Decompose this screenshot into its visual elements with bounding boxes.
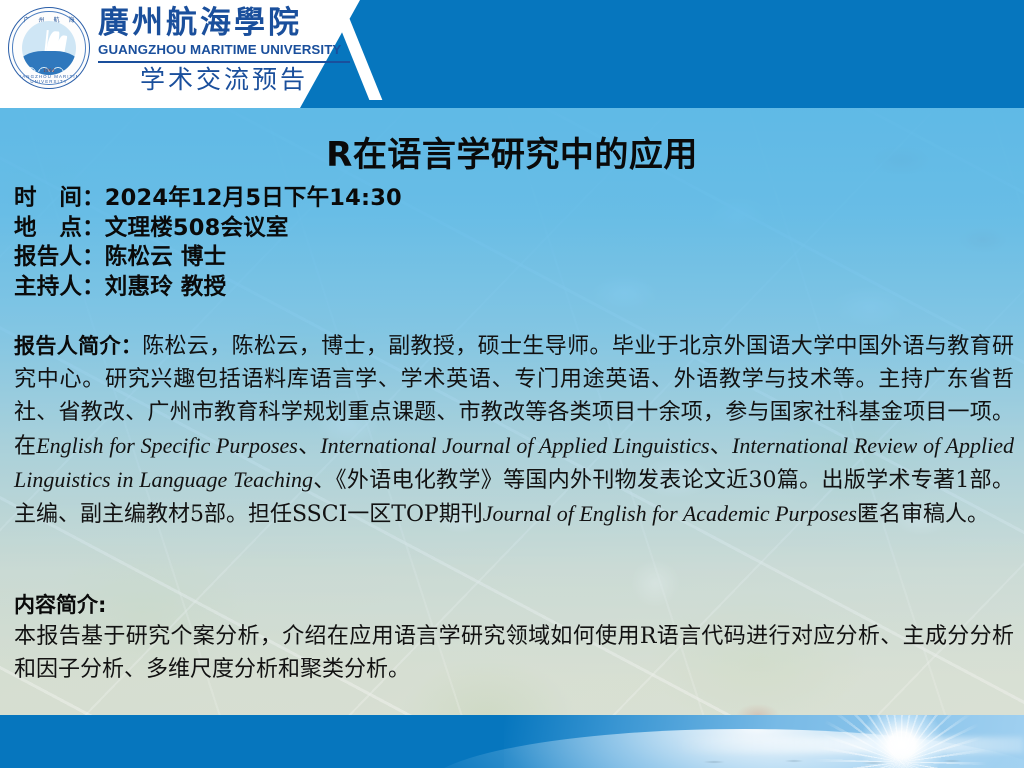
university-name-chinese: 廣州航海學院 — [98, 5, 360, 41]
event-host-line: 主持人：刘惠玲 教授 — [14, 273, 402, 303]
seal-english-arc-text: GUANGZHOU MARITIME UNIVERSITY — [9, 74, 89, 84]
university-seal-logo-icon: 广州航海 1964 GUANGZHOU MARITIME UNIVERSITY — [8, 7, 90, 89]
poster-content: R在语言学研究中的应用 时 间：2024年12月5日下午14:30 地 点：文理… — [0, 108, 1024, 715]
content-summary-label: 内容简介: — [14, 590, 1014, 620]
event-speaker-line: 报告人：陈松云 博士 — [14, 243, 402, 273]
university-brand-block: 廣州航海學院 GUANGZHOU MARITIME UNIVERSITY 学术交… — [98, 5, 360, 95]
brand-divider — [98, 61, 350, 63]
content-summary-section: 内容简介: 本报告基于研究个案分析，介绍在应用语言学研究领域如何使用R语言代码进… — [14, 590, 1014, 686]
bio-separator-1: 、 — [298, 434, 320, 459]
content-summary-paragraph: 本报告基于研究个案分析，介绍在应用语言学研究领域如何使用R语言代码进行对应分析、… — [14, 620, 1014, 686]
speaker-bio-section: 报告人简介：陈松云，陈松云，博士，副教授，硕士生导师。毕业于北京外国语大学中国外… — [14, 330, 1014, 531]
poster-root: 广州航海 1964 GUANGZHOU MARITIME UNIVERSITY … — [0, 0, 1024, 768]
poster-header: 广州航海 1964 GUANGZHOU MARITIME UNIVERSITY … — [0, 0, 1024, 108]
journal-name-4: Journal of English for Academic Purposes — [483, 501, 857, 526]
university-name-english: GUANGZHOU MARITIME UNIVERSITY — [98, 41, 363, 59]
speaker-bio-paragraph: 报告人简介：陈松云，陈松云，博士，副教授，硕士生导师。毕业于北京外国语大学中国外… — [14, 330, 1014, 531]
bio-separator-2: 、 — [710, 434, 732, 459]
journal-name-2: International Journal of Applied Linguis… — [320, 433, 709, 458]
page-title: R在语言学研究中的应用 — [0, 134, 1024, 176]
footer-ships-silhouette-icon — [684, 756, 1014, 766]
speaker-bio-tail: 匿名审稿人。 — [857, 502, 989, 527]
event-time-line: 时 间：2024年12月5日下午14:30 — [14, 184, 402, 214]
event-info-block: 时 间：2024年12月5日下午14:30 地 点：文理楼508会议室 报告人：… — [14, 184, 402, 302]
footer-sky-gradient — [504, 715, 1024, 768]
speaker-bio-label: 报告人简介： — [14, 334, 142, 358]
journal-name-1: English for Specific Purposes — [36, 433, 298, 458]
seal-inner-emblem — [22, 21, 76, 75]
poster-footer — [0, 715, 1024, 768]
event-location-line: 地 点：文理楼508会议室 — [14, 214, 402, 244]
poster-category-label: 学术交流预告 — [98, 65, 350, 95]
